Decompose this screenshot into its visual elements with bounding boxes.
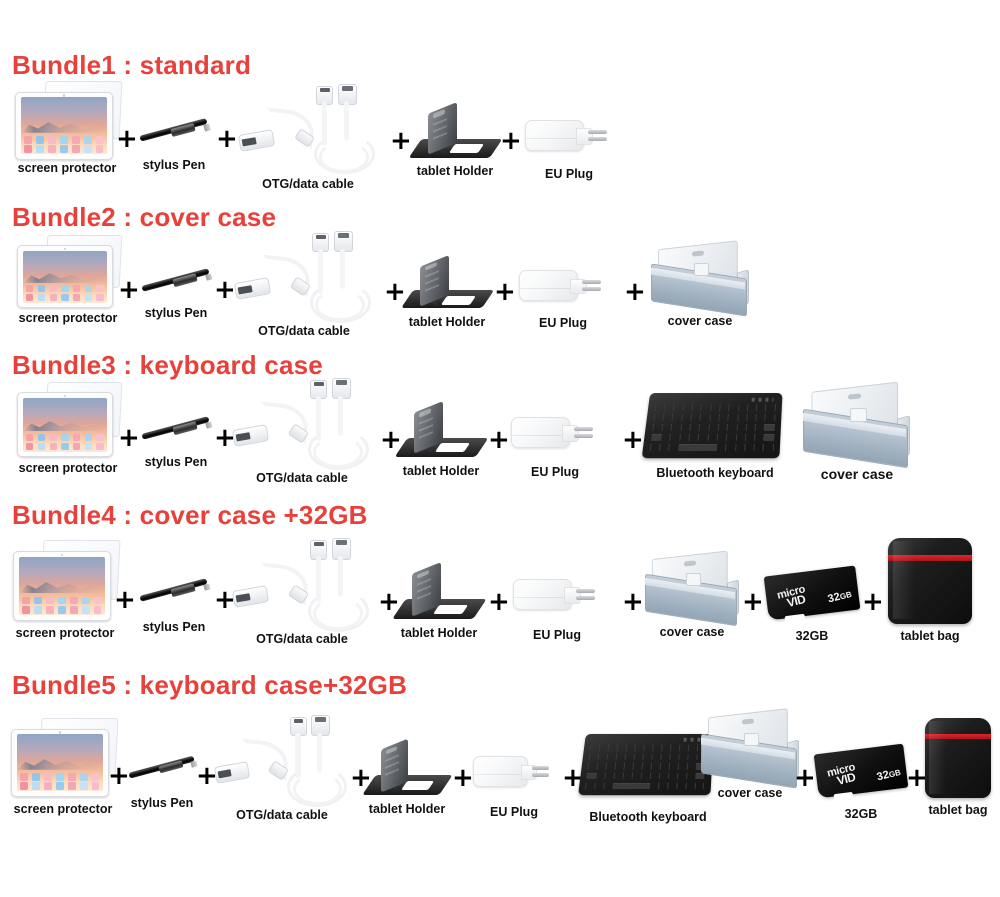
key [687, 745, 688, 751]
case-clip [850, 408, 867, 422]
key [747, 404, 748, 411]
key [710, 404, 711, 411]
app-icon [56, 773, 64, 781]
pen-grip [159, 760, 184, 773]
product-cover-case[interactable]: cover case [800, 387, 914, 482]
product-label: Bluetooth keyboard [642, 467, 788, 480]
key [613, 773, 614, 779]
key [667, 773, 668, 779]
charger-body [473, 756, 528, 787]
app-icon [73, 434, 80, 441]
tablet-bag-art [917, 715, 999, 801]
app-icon-grid [20, 770, 99, 789]
app-icon [44, 782, 52, 790]
product-bluetooth-keyboard[interactable]: Bluetooth keyboard [578, 729, 718, 824]
screen-protector-art [17, 242, 119, 308]
key [641, 764, 642, 770]
key [642, 754, 643, 760]
app-icon [36, 145, 44, 153]
key [596, 764, 598, 770]
eu-plug-art [511, 571, 603, 619]
plus-separator: + [488, 589, 510, 615]
product-memory-card-32gb[interactable]: micro VID 32GB 32GB [812, 743, 910, 821]
bundle-title: Bundle4 : cover case +32GB [12, 500, 368, 531]
product-label: EU Plug [508, 466, 602, 479]
key [725, 444, 726, 451]
product-eu-plug[interactable]: EU Plug [470, 749, 558, 819]
key [633, 754, 634, 760]
key [765, 414, 766, 421]
charger-pin [588, 130, 606, 133]
tablet-screen [21, 97, 107, 154]
product-tablet-bag[interactable]: tablet bag [916, 715, 1000, 817]
product-otg-data-cable[interactable]: OTG/data cable [232, 378, 372, 485]
usb-female-port [234, 277, 272, 300]
key [696, 754, 697, 760]
key [678, 745, 679, 751]
key [682, 404, 684, 411]
key [652, 745, 653, 751]
product-eu-plug[interactable]: EU Plug [508, 409, 602, 479]
plus-separator: + [114, 587, 136, 613]
charger-pin [588, 137, 606, 140]
plus-separator: + [216, 126, 238, 152]
product-tablet-holder[interactable]: tablet Holder [396, 563, 482, 640]
charger-pin [582, 280, 600, 283]
key [699, 424, 700, 431]
product-label: EU Plug [470, 806, 558, 819]
plus-separator: + [118, 277, 140, 303]
app-icon [46, 597, 54, 605]
app-icon [22, 597, 30, 605]
plus-separator: + [384, 279, 406, 305]
key [671, 424, 673, 431]
key [708, 424, 709, 431]
product-label: cover case [800, 467, 914, 482]
plus-separator: + [116, 126, 138, 152]
key [640, 773, 641, 779]
product-screen-protector[interactable]: screen protector [14, 389, 122, 475]
app-icon [48, 136, 56, 144]
product-tablet-holder[interactable]: tablet Holder [366, 739, 448, 816]
holder-cutout [449, 144, 484, 153]
key [734, 444, 735, 451]
key [763, 444, 764, 451]
front-camera-icon [63, 94, 65, 96]
tablet-holder-art [399, 403, 483, 459]
cover-case-art [699, 713, 801, 783]
tablet-holder-art [413, 104, 497, 160]
product-label: tablet Holder [396, 627, 482, 640]
front-camera-icon [64, 395, 66, 397]
holder-cutout [441, 296, 475, 305]
product-label: stylus Pen [138, 456, 214, 469]
product-label: tablet bag [876, 630, 984, 643]
eu-plug-art [523, 112, 615, 160]
key [676, 773, 677, 779]
app-icon [32, 773, 40, 781]
plus-separator: + [214, 277, 236, 303]
product-label: OTG/data cable [234, 325, 374, 338]
app-icon-row [24, 136, 103, 144]
product-stylus-pen[interactable]: stylus Pen [138, 261, 214, 320]
plus-separator: + [624, 279, 646, 305]
key [608, 745, 609, 751]
product-otg-data-cable[interactable]: OTG/data cable [234, 231, 374, 338]
product-eu-plug[interactable]: EU Plug [510, 571, 604, 642]
key [651, 434, 662, 441]
sd-capacity-unit: GB [839, 589, 853, 601]
key [586, 773, 597, 779]
bundle-title: Bundle5 : keyboard case+32GB [12, 670, 407, 701]
product-label: stylus Pen [136, 621, 212, 634]
app-icon [32, 782, 40, 790]
app-icon [96, 136, 104, 144]
key [727, 414, 728, 421]
app-icon [73, 443, 80, 450]
key [685, 783, 686, 790]
key [667, 783, 668, 790]
product-label: 32GB [812, 808, 910, 821]
product-label: stylus Pen [136, 159, 212, 172]
app-icon [80, 773, 88, 781]
app-icon-row [24, 145, 103, 153]
app-icon [73, 285, 80, 292]
plus-separator: + [742, 589, 764, 615]
stylus-pen-art [138, 110, 210, 150]
tablet-screen [23, 398, 107, 452]
app-icon-grid [26, 283, 104, 301]
key [673, 404, 675, 411]
key [744, 444, 745, 451]
key [687, 754, 688, 760]
key [622, 773, 623, 779]
key [661, 424, 663, 431]
app-icon [70, 597, 78, 605]
eu-plug-art [517, 263, 609, 309]
key [585, 783, 587, 790]
cable-coil [319, 141, 369, 173]
product-label: Bluetooth keyboard [578, 811, 718, 824]
app-icon [24, 145, 32, 153]
product-tablet-bag[interactable]: tablet bag [876, 535, 984, 643]
memory-card-art: micro VID 32GB [763, 565, 861, 621]
product-label: screen protector [12, 162, 122, 175]
key [691, 404, 692, 411]
key [774, 414, 775, 421]
keyboard-shell [642, 393, 783, 458]
plus-separator: + [488, 427, 510, 453]
plus-separator: + [390, 128, 412, 154]
app-icon [26, 434, 33, 441]
key [649, 773, 650, 779]
key [700, 414, 701, 421]
key [662, 414, 664, 421]
key [605, 764, 606, 770]
app-icon [85, 443, 92, 450]
app-icon [50, 285, 57, 292]
sd-notch [784, 614, 804, 624]
key [696, 745, 697, 751]
key [634, 745, 635, 751]
tablet-body [17, 392, 113, 457]
key [745, 434, 746, 441]
key [624, 754, 625, 760]
key [756, 404, 757, 411]
app-icon [22, 606, 30, 614]
key [755, 414, 756, 421]
case-camera-cutout [684, 560, 696, 566]
key [685, 773, 686, 779]
plus-separator: + [622, 427, 644, 453]
pen-grip [171, 583, 197, 597]
product-otg-data-cable[interactable]: OTG/data cable [214, 715, 350, 822]
product-stylus-pen[interactable]: stylus Pen [126, 749, 198, 810]
app-icon [72, 136, 80, 144]
eu-plug-art [509, 409, 601, 457]
key [698, 434, 699, 441]
sd-capacity-print: 32GB [827, 587, 853, 605]
key [736, 424, 737, 431]
key [631, 773, 632, 779]
key [745, 424, 746, 431]
key [603, 783, 604, 790]
key [754, 434, 755, 441]
app-icon [94, 606, 102, 614]
tablet-holder-art [397, 563, 481, 621]
wallpaper-mountains [23, 269, 107, 283]
otg-data-cable-art [215, 715, 349, 803]
spacebar-key [612, 783, 650, 790]
product-cover-case[interactable]: cover case [642, 555, 742, 639]
key [594, 783, 596, 790]
sd-card-body: micro VID 32GB [764, 565, 861, 620]
key [664, 404, 666, 411]
product-stylus-pen[interactable]: stylus Pen [136, 110, 212, 172]
usb-female-port [238, 129, 275, 151]
bundle-title: Bundle3 : keyboard case [12, 350, 323, 381]
key [643, 745, 644, 751]
pen-grip [173, 421, 199, 435]
charger-pin [576, 589, 594, 592]
sd-card-body: micro VID 32GB [814, 743, 909, 797]
product-tablet-holder[interactable]: tablet Holder [412, 104, 498, 178]
app-icon [26, 285, 33, 292]
key [681, 414, 683, 421]
screen-protector-art [15, 88, 119, 160]
key [658, 783, 659, 790]
key [658, 773, 659, 779]
key [604, 773, 605, 779]
key [716, 434, 717, 441]
app-icon [96, 285, 103, 292]
charger-body [513, 579, 572, 611]
product-label: EU Plug [522, 168, 616, 181]
key [652, 424, 654, 431]
product-otg-data-cable[interactable]: OTG/data cable [238, 84, 378, 191]
charger-body [525, 120, 584, 152]
key [623, 764, 624, 770]
key [707, 434, 708, 441]
key [651, 754, 652, 760]
charger-pin [582, 287, 600, 290]
app-icon [20, 782, 28, 790]
charger-body [519, 270, 578, 301]
cover-case-art [801, 387, 913, 463]
app-icon [34, 597, 42, 605]
app-icon [92, 773, 100, 781]
app-icon [82, 597, 90, 605]
app-icon [48, 145, 56, 153]
product-eu-plug[interactable]: EU Plug [516, 263, 610, 330]
bag-sleeve [888, 538, 973, 624]
app-icon [96, 434, 103, 441]
bundle-row-5: Bundle5 : keyboard case+32GB [0, 665, 1000, 897]
key [653, 414, 655, 421]
screen-protector-art [17, 389, 119, 457]
key [678, 754, 679, 760]
app-icon [85, 294, 92, 301]
stylus-pen-art [127, 749, 197, 785]
product-screen-protector[interactable]: screen protector [8, 725, 118, 816]
app-icon-row [20, 773, 99, 781]
app-icon [38, 294, 45, 301]
product-label: 32GB [762, 630, 862, 643]
keyboard-indicator [752, 397, 774, 401]
app-icon [94, 597, 102, 605]
product-otg-data-cable[interactable]: OTG/data cable [232, 538, 372, 646]
key [727, 424, 728, 431]
front-camera-icon [64, 248, 66, 250]
key [689, 424, 690, 431]
product-screen-protector[interactable]: screen protector [12, 88, 122, 175]
usb-female-port [232, 424, 270, 447]
key [654, 404, 656, 411]
screen-protector-art [11, 725, 115, 797]
key [677, 764, 678, 770]
app-icon-grid [24, 133, 103, 152]
stylus-pen-art [140, 409, 212, 447]
key [753, 444, 754, 451]
product-label: screen protector [14, 462, 122, 475]
app-icon [84, 145, 92, 153]
app-icon [61, 434, 68, 441]
bluetooth-keyboard-art [643, 387, 787, 465]
spacebar-key [678, 444, 717, 451]
tablet-screen [17, 734, 103, 791]
key [670, 745, 671, 751]
bundle-row-3: Bundle3 : keyboard case [0, 345, 1000, 495]
app-icon [36, 136, 44, 144]
key [728, 404, 729, 411]
keyboard-keys [585, 745, 706, 789]
product-memory-card-32gb[interactable]: micro VID 32GB 32GB [762, 565, 862, 643]
app-icon [38, 434, 45, 441]
app-icon [60, 145, 68, 153]
app-icon [34, 606, 42, 614]
tablet-body [13, 551, 111, 621]
key [719, 404, 720, 411]
app-icon [46, 606, 54, 614]
product-screen-protector[interactable]: screen protector [10, 547, 120, 640]
key [772, 444, 773, 451]
pen-tip [203, 123, 211, 131]
key [625, 745, 626, 751]
app-icon [58, 606, 66, 614]
case-camera-cutout [692, 250, 704, 256]
charger-pin [574, 434, 592, 437]
key [764, 424, 774, 431]
product-screen-protector[interactable]: screen protector [14, 242, 122, 325]
key [669, 434, 671, 441]
app-icon-grid [22, 594, 101, 614]
sd-notch [834, 792, 854, 802]
product-label: tablet Holder [404, 316, 490, 329]
plus-separator: + [500, 128, 522, 154]
bag-sleeve [925, 718, 991, 799]
app-icon [84, 136, 92, 144]
memory-card-art: micro VID 32GB [813, 743, 909, 799]
key [718, 414, 719, 421]
product-label: tablet Holder [398, 465, 484, 478]
case-clip [694, 263, 709, 276]
bundle-row-2: Bundle2 : cover case [0, 195, 1000, 345]
app-icon [26, 294, 33, 301]
eu-plug-art [471, 749, 557, 795]
plus-separator: + [622, 589, 644, 615]
sd-capacity-print: 32GB [875, 765, 901, 783]
keyboard-shell [578, 734, 713, 795]
product-label: screen protector [14, 312, 122, 325]
bag-highlight [929, 721, 946, 794]
product-bluetooth-keyboard[interactable]: Bluetooth keyboard [642, 387, 788, 480]
app-icon [85, 285, 92, 292]
wallpaper-mountains [19, 578, 105, 593]
key [659, 764, 660, 770]
stylus-pen-art [140, 261, 212, 299]
product-cover-case[interactable]: cover case [648, 245, 752, 328]
tablet-body [15, 92, 113, 160]
key [668, 764, 669, 770]
key [668, 444, 670, 451]
usb-female-port [214, 761, 251, 784]
key [701, 404, 702, 411]
product-label: stylus Pen [126, 797, 198, 810]
plus-separator: + [118, 425, 140, 451]
wallpaper-mountains [17, 755, 103, 770]
product-stylus-pen[interactable]: stylus Pen [138, 409, 214, 469]
product-cover-case[interactable]: cover case [698, 713, 802, 800]
key [709, 414, 710, 421]
product-tablet-holder[interactable]: tablet Holder [398, 403, 484, 478]
key [735, 434, 736, 441]
app-icon-row [22, 597, 101, 605]
bundle-row-1: Bundle1 : standard [0, 0, 1000, 195]
screen-protector-art [13, 547, 117, 621]
stylus-pen-art [138, 571, 210, 609]
front-camera-icon [61, 554, 63, 556]
product-eu-plug[interactable]: EU Plug [522, 112, 616, 181]
product-stylus-pen[interactable]: stylus Pen [136, 571, 212, 634]
key [599, 745, 600, 751]
app-icon-row [26, 443, 104, 450]
product-label: screen protector [10, 627, 120, 640]
key [774, 404, 775, 411]
product-tablet-holder[interactable]: tablet Holder [404, 257, 490, 329]
app-icon [96, 294, 103, 301]
pen-tip [203, 583, 211, 591]
key [686, 764, 687, 770]
